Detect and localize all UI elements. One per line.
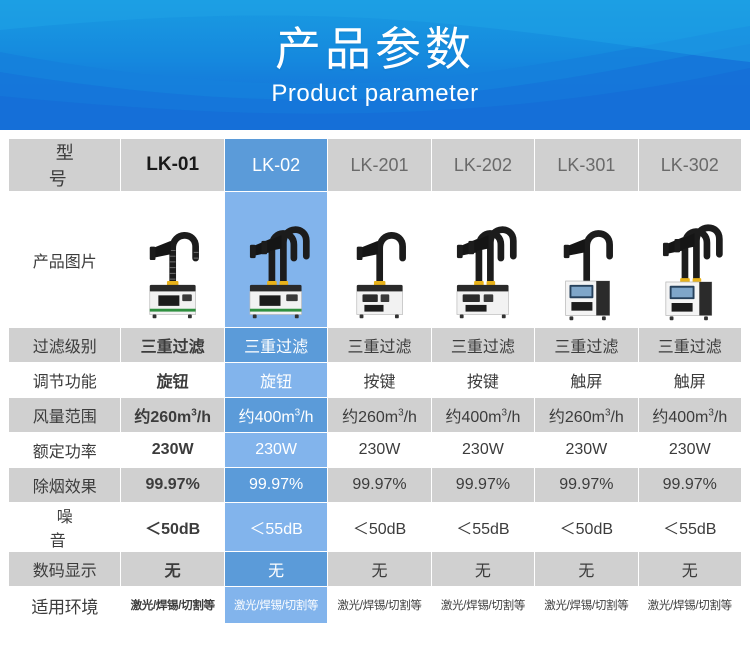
page-banner: 产品参数 Product parameter — [0, 0, 750, 130]
cell-environment-lk01: 激光/焊锡/切割等 — [121, 587, 224, 624]
cell-noise-lk202: ＜55dB — [431, 503, 534, 552]
cell-airflow-lk01: 约260m3/h — [121, 398, 224, 433]
cell-airflow-lk202: 约400m3/h — [431, 398, 534, 433]
cell-airflow-lk201: 约260m3/h — [328, 398, 431, 433]
cell-filter-level-lk202: 三重过滤 — [431, 328, 534, 363]
cell-model-lk201: LK-201 — [328, 139, 431, 192]
cell-power-lk01: 230W — [121, 433, 224, 468]
cell-power-lk201: 230W — [328, 433, 431, 468]
cell-power-lk02: 230W — [224, 433, 327, 468]
cell-power-lk301: 230W — [535, 433, 638, 468]
fume-extractor-lk-02-icon — [227, 196, 325, 324]
cell-image-lk202 — [431, 192, 534, 328]
table-row-filter-level: 过滤级别 三重过滤 三重过滤 三重过滤 三重过滤 三重过滤 三重过滤 — [9, 328, 742, 363]
row-label-power: 额定功率 — [9, 433, 121, 468]
cell-model-lk02: LK-02 — [224, 139, 327, 192]
cell-environment-lk201: 激光/焊锡/切割等 — [328, 587, 431, 624]
cell-filter-level-lk301: 三重过滤 — [535, 328, 638, 363]
cell-noise-lk02: ＜55dB — [224, 503, 327, 552]
table-row-noise: 噪 音 ＜50dB ＜55dB ＜50dB ＜55dB ＜50dB ＜55dB — [9, 503, 742, 552]
cell-model-lk301: LK-301 — [535, 139, 638, 192]
cell-display-lk01: 无 — [121, 552, 224, 587]
table-row-display: 数码显示 无 无 无 无 无 无 — [9, 552, 742, 587]
table-row-power: 额定功率 230W 230W 230W 230W 230W 230W — [9, 433, 742, 468]
cell-efficiency-lk201: 99.97% — [328, 468, 431, 503]
cell-model-lk302: LK-302 — [638, 139, 741, 192]
spec-table-body: 型 号 LK-01 LK-02 LK-201 LK-202 LK-301 LK-… — [9, 139, 742, 624]
cell-power-lk302: 230W — [638, 433, 741, 468]
cell-adjust-lk302: 触屏 — [638, 363, 741, 398]
fume-extractor-lk-01-icon — [123, 196, 221, 324]
cell-environment-lk301: 激光/焊锡/切割等 — [535, 587, 638, 624]
row-label-product-image: 产品图片 — [9, 192, 121, 328]
cell-noise-lk301: ＜50dB — [535, 503, 638, 552]
page-title: 产品参数 — [275, 21, 475, 77]
cell-image-lk302 — [638, 192, 741, 328]
banner-text-block: 产品参数 Product parameter — [0, 0, 750, 130]
cell-filter-level-lk02: 三重过滤 — [224, 328, 327, 363]
cell-image-lk01 — [121, 192, 224, 328]
row-label-model: 型 号 — [9, 139, 121, 192]
cell-adjust-lk202: 按键 — [431, 363, 534, 398]
table-row-model: 型 号 LK-01 LK-02 LK-201 LK-202 LK-301 LK-… — [9, 139, 742, 192]
cell-adjust-lk01: 旋钮 — [121, 363, 224, 398]
cell-environment-lk202: 激光/焊锡/切割等 — [431, 587, 534, 624]
cell-filter-level-lk201: 三重过滤 — [328, 328, 431, 363]
cell-image-lk301 — [535, 192, 638, 328]
row-label-adjust: 调节功能 — [9, 363, 121, 398]
cell-efficiency-lk202: 99.97% — [431, 468, 534, 503]
cell-adjust-lk02: 旋钮 — [224, 363, 327, 398]
cell-efficiency-lk302: 99.97% — [638, 468, 741, 503]
fume-extractor-lk-202-icon — [434, 196, 532, 324]
cell-display-lk202: 无 — [431, 552, 534, 587]
cell-noise-lk302: ＜55dB — [638, 503, 741, 552]
table-row-efficiency: 除烟效果 99.97% 99.97% 99.97% 99.97% 99.97% … — [9, 468, 742, 503]
spec-table-wrapper: 型 号 LK-01 LK-02 LK-201 LK-202 LK-301 LK-… — [0, 130, 750, 624]
fume-extractor-lk-201-icon — [330, 196, 428, 324]
row-label-display: 数码显示 — [9, 552, 121, 587]
row-label-environment: 适用环境 — [9, 587, 121, 624]
table-row-adjust: 调节功能 旋钮 旋钮 按键 按键 触屏 触屏 — [9, 363, 742, 398]
row-label-airflow: 风量范围 — [9, 398, 121, 433]
cell-environment-lk302: 激光/焊锡/切割等 — [638, 587, 741, 624]
fume-extractor-lk-302-icon — [641, 196, 739, 324]
product-parameter-table: 型 号 LK-01 LK-02 LK-201 LK-202 LK-301 LK-… — [8, 138, 742, 624]
cell-adjust-lk201: 按键 — [328, 363, 431, 398]
cell-display-lk201: 无 — [328, 552, 431, 587]
cell-airflow-lk302: 约400m3/h — [638, 398, 741, 433]
table-row-product-image: 产品图片 — [9, 192, 742, 328]
cell-display-lk02: 无 — [224, 552, 327, 587]
cell-efficiency-lk02: 99.97% — [224, 468, 327, 503]
cell-filter-level-lk302: 三重过滤 — [638, 328, 741, 363]
cell-environment-lk02: 激光/焊锡/切割等 — [224, 587, 327, 624]
cell-airflow-lk301: 约260m3/h — [535, 398, 638, 433]
row-label-efficiency: 除烟效果 — [9, 468, 121, 503]
table-row-environment: 适用环境 激光/焊锡/切割等 激光/焊锡/切割等 激光/焊锡/切割等 激光/焊锡… — [9, 587, 742, 624]
row-label-noise: 噪 音 — [9, 503, 121, 552]
cell-efficiency-lk301: 99.97% — [535, 468, 638, 503]
cell-display-lk302: 无 — [638, 552, 741, 587]
cell-display-lk301: 无 — [535, 552, 638, 587]
cell-filter-level-lk01: 三重过滤 — [121, 328, 224, 363]
cell-model-lk202: LK-202 — [431, 139, 534, 192]
page-subtitle: Product parameter — [271, 79, 478, 109]
cell-power-lk202: 230W — [431, 433, 534, 468]
table-row-airflow: 风量范围 约260m3/h 约400m3/h 约260m3/h 约400m3/h… — [9, 398, 742, 433]
fume-extractor-lk-301-icon — [537, 196, 635, 324]
cell-adjust-lk301: 触屏 — [535, 363, 638, 398]
cell-airflow-lk02: 约400m3/h — [224, 398, 327, 433]
cell-image-lk201 — [328, 192, 431, 328]
cell-noise-lk201: ＜50dB — [328, 503, 431, 552]
cell-efficiency-lk01: 99.97% — [121, 468, 224, 503]
row-label-filter-level: 过滤级别 — [9, 328, 121, 363]
cell-image-lk02 — [224, 192, 327, 328]
